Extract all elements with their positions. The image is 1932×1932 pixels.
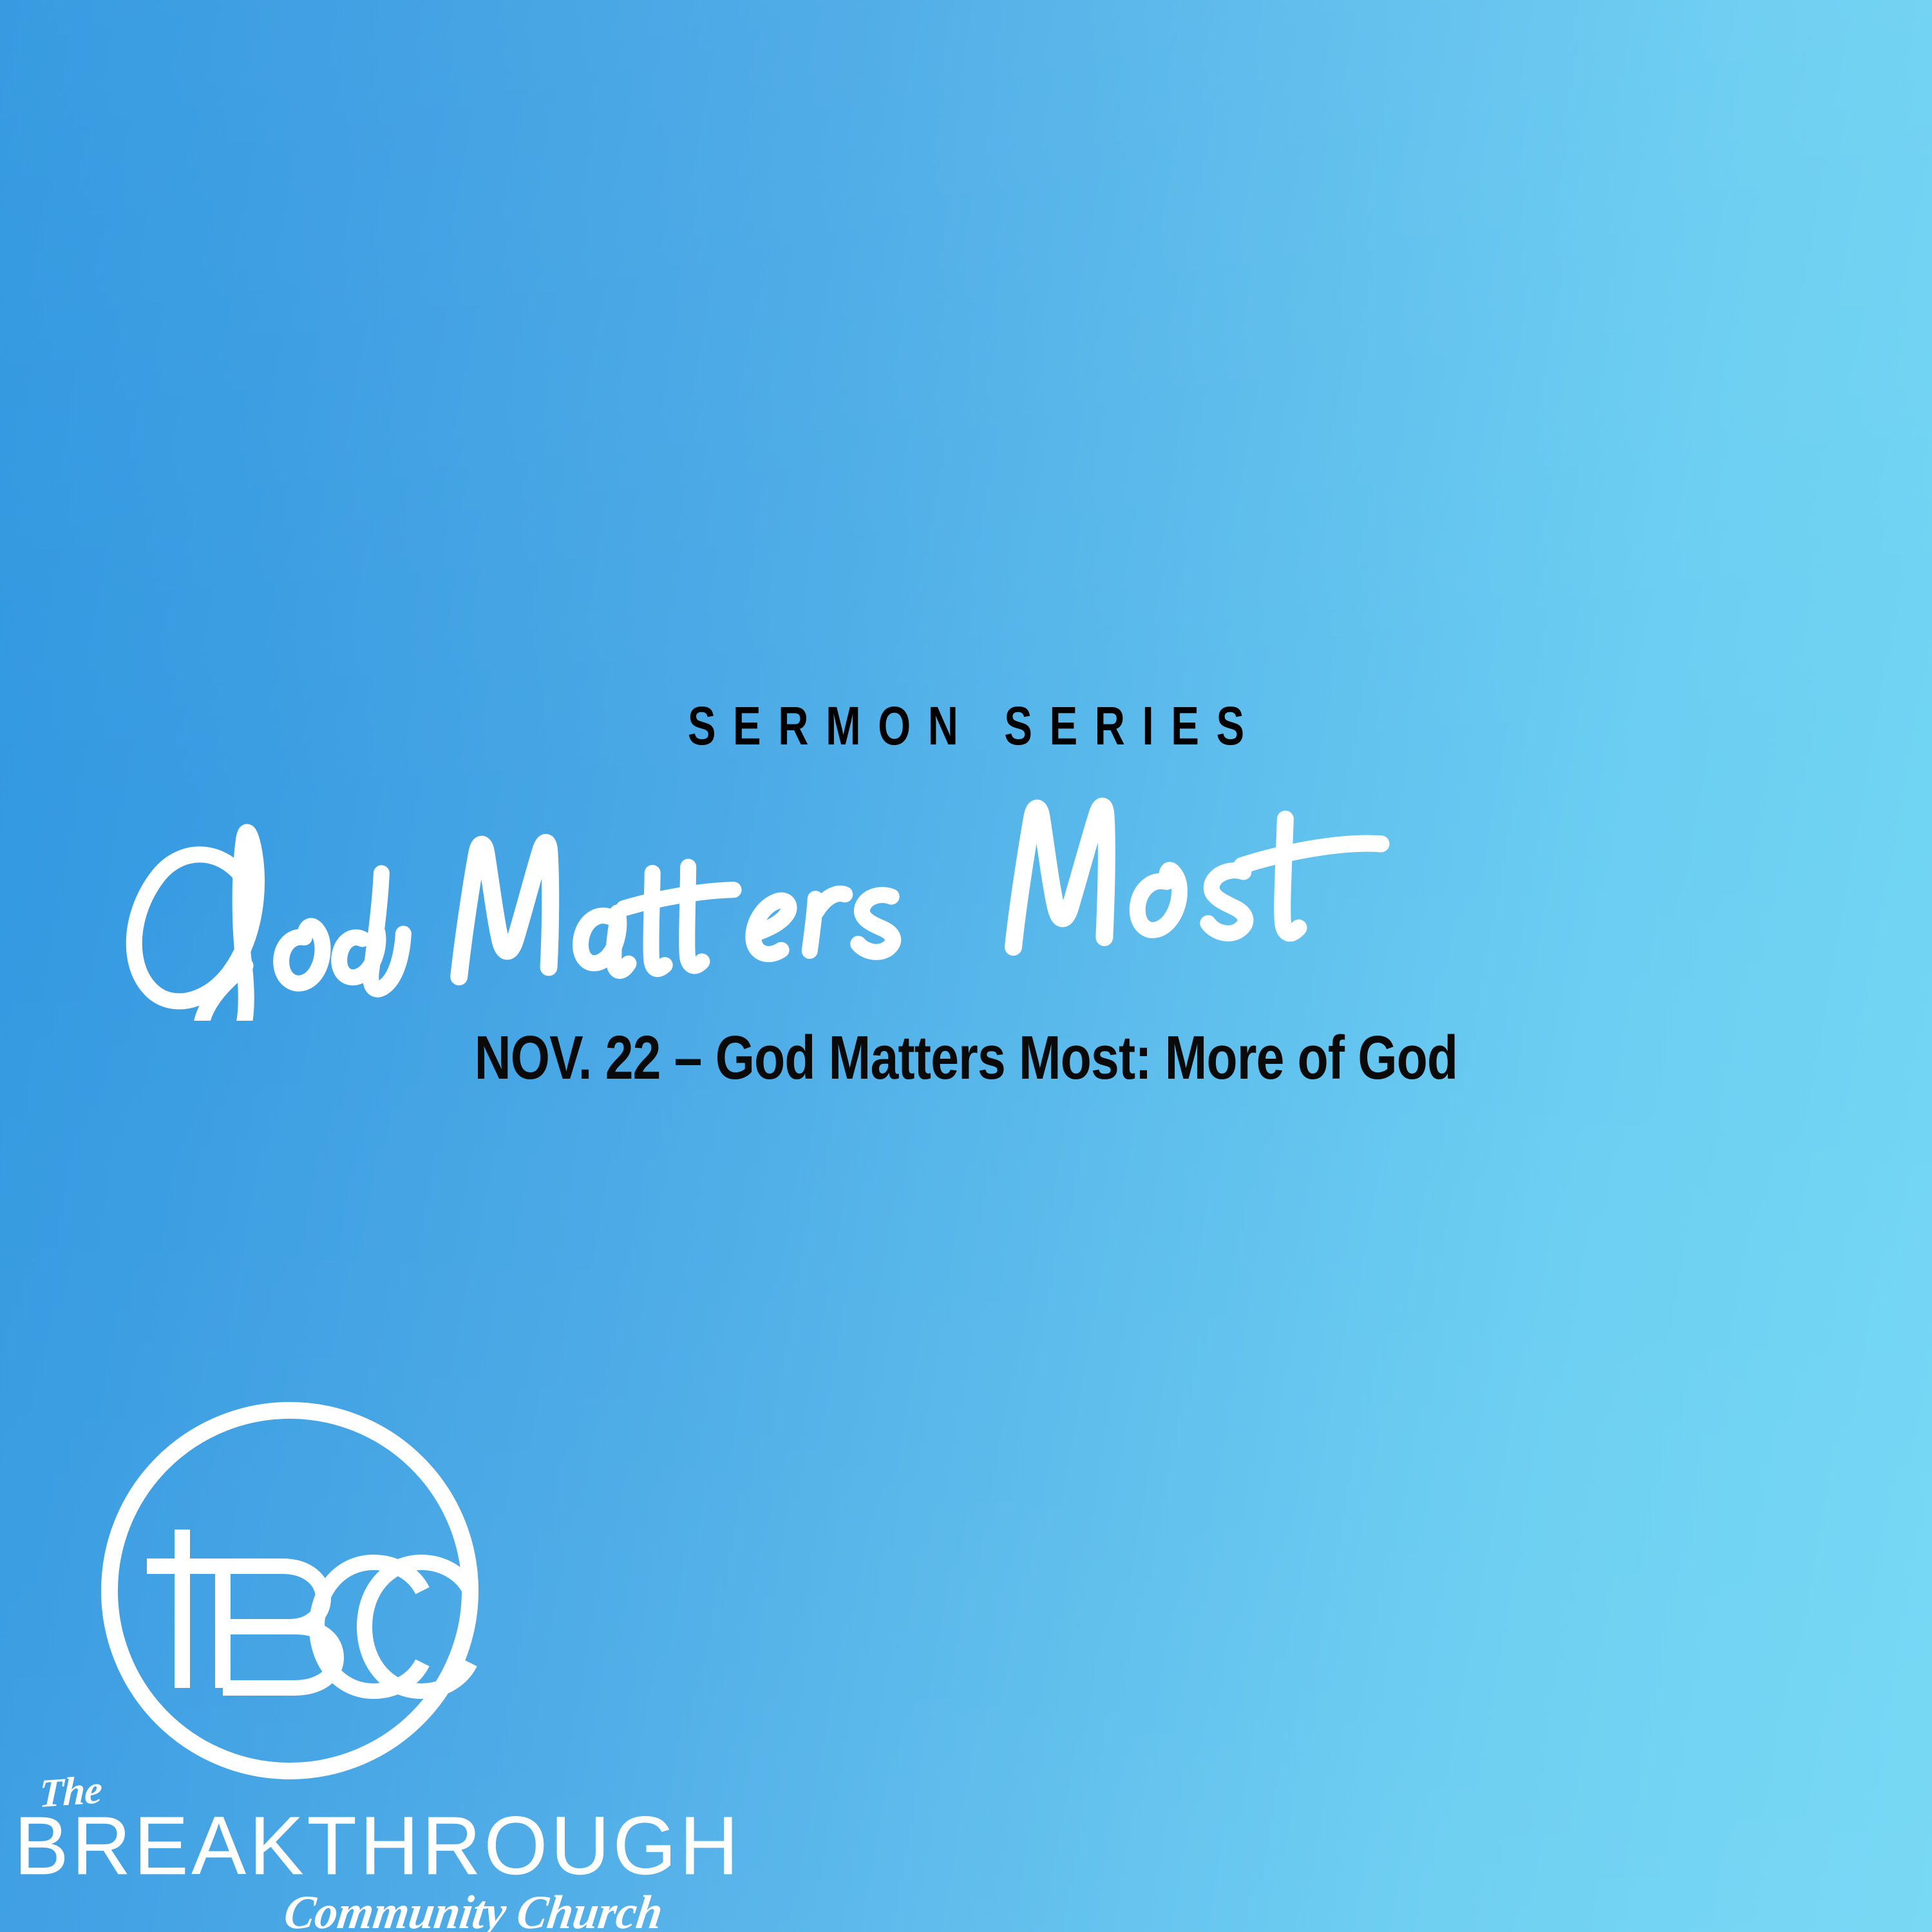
- wordmark-suffix: Community Church: [281, 1889, 666, 1932]
- sermon-series-slide: SERMON SERIES God Matters Most: [0, 0, 1932, 1932]
- wordmark-name: BREAKTHROUGH: [14, 1805, 742, 1888]
- breakthrough-wordmark: The BREAKTHROUGH Community Church: [14, 1774, 632, 1932]
- tbcc-logo-svg: TBCC: [97, 1397, 496, 1797]
- cross-t-icon: [147, 1529, 223, 1688]
- series-title-svg: God Matters Most: [90, 763, 1842, 1021]
- tbcc-logo-mark: TBCC: [97, 1397, 496, 1797]
- sermon-subtitle: NOV. 22 – God Matters Most: More of God: [174, 1027, 1758, 1089]
- sermon-series-eyebrow: SERMON SERIES: [213, 699, 1719, 753]
- series-title-script: God Matters Most: [0, 763, 1932, 1021]
